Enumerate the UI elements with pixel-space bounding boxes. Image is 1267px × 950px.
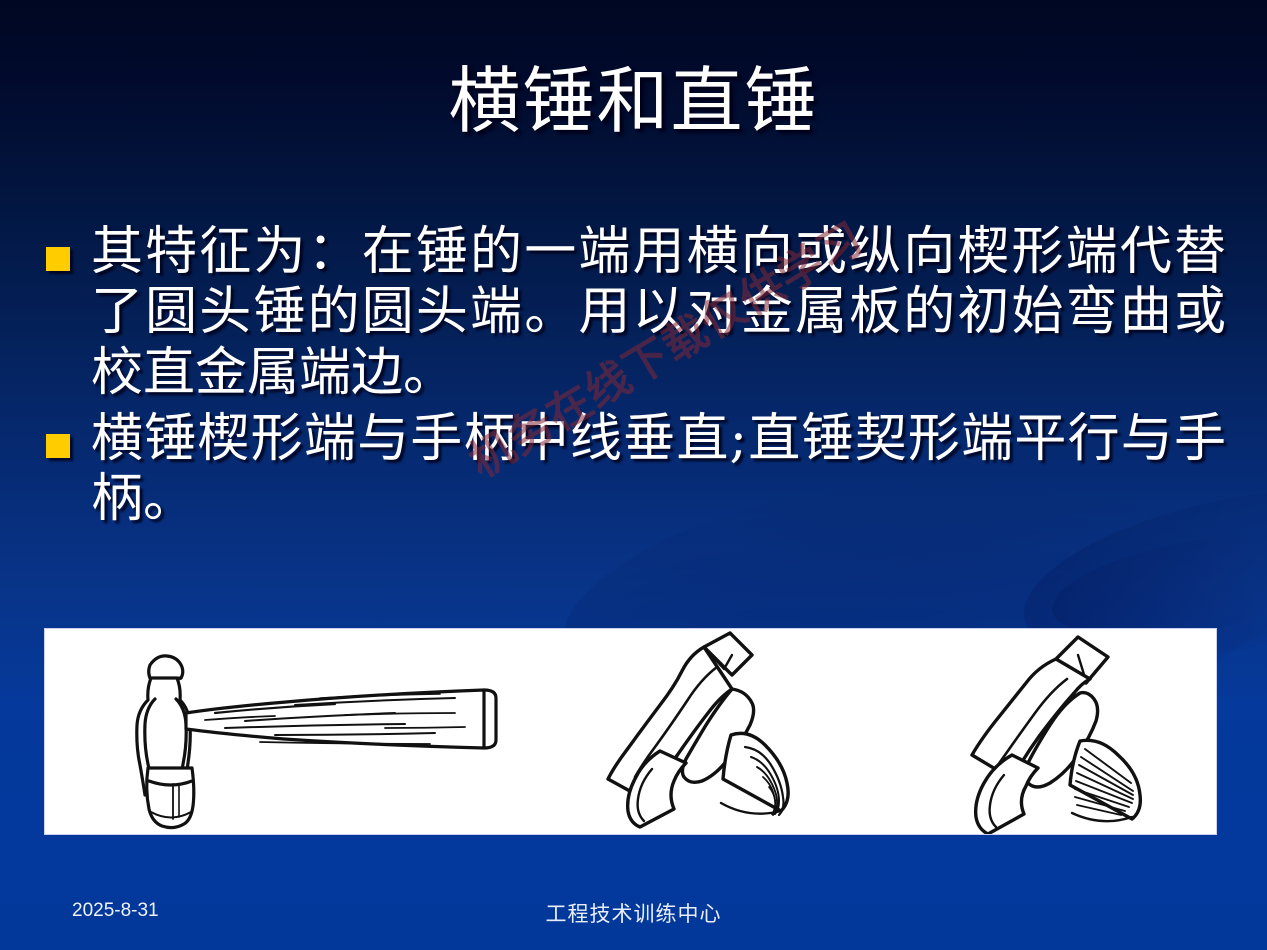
list-item: 横锤楔形端与手柄中线垂直;直锤契形端平行与手柄。 (46, 409, 1226, 530)
list-item: 其特征为：在锤的一端用横向或纵向楔形端代替了圆头锤的圆头端。用以对金属板的初始弯… (46, 222, 1226, 403)
slide-canvas: 横锤和直锤 其特征为：在锤的一端用横向或纵向楔形端代替了圆头锤的圆头端。用以对金… (0, 0, 1267, 950)
bullet-text: 横锤楔形端与手柄中线垂直;直锤契形端平行与手柄。 (91, 409, 1226, 530)
square-bullet-icon (46, 434, 70, 458)
square-bullet-icon (46, 247, 70, 271)
hammers-illustration (45, 629, 1216, 834)
slide-title: 横锤和直锤 (0, 62, 1267, 141)
bullet-list: 其特征为：在锤的一端用横向或纵向楔形端代替了圆头锤的圆头端。用以对金属板的初始弯… (46, 222, 1226, 536)
bullet-text: 其特征为：在锤的一端用横向或纵向楔形端代替了圆头锤的圆头端。用以对金属板的初始弯… (91, 222, 1226, 403)
figure-image-panel (44, 628, 1217, 835)
footer-organization: 工程技术训练中心 (0, 898, 1267, 928)
